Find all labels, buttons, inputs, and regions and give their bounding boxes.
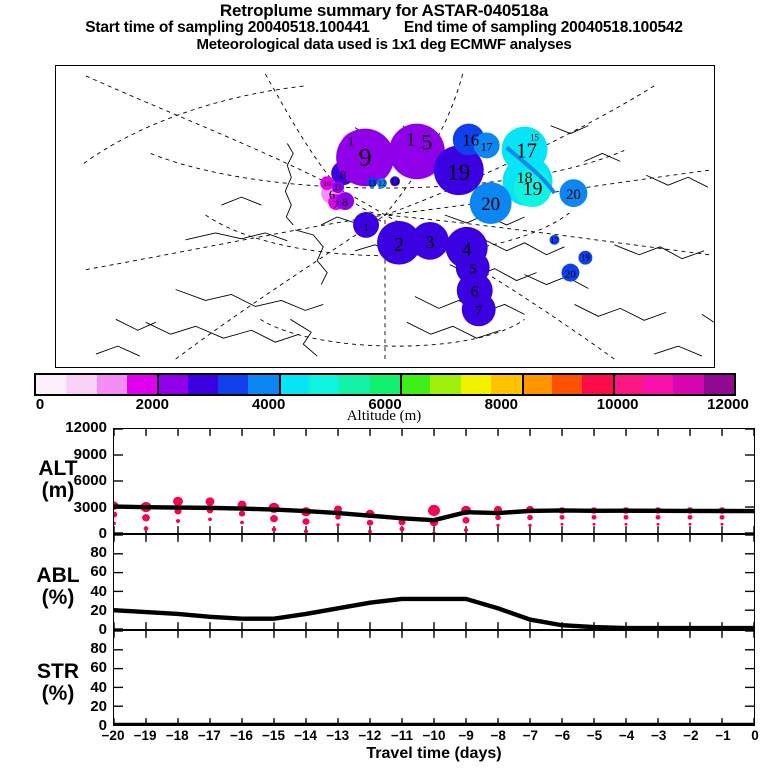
svg-text:19: 19 <box>581 253 590 263</box>
svg-text:3: 3 <box>425 232 434 252</box>
y-axis-tick: 20 <box>45 699 107 714</box>
y-axis-tick: 80 <box>45 545 107 560</box>
y-axis-tick: 60 <box>45 564 107 579</box>
colorbar-segment <box>704 375 734 394</box>
colorbar-segment <box>309 375 339 394</box>
alt-data-point <box>656 515 661 520</box>
colorbar-segment <box>430 375 460 394</box>
altitude-colorbar[interactable] <box>34 373 736 396</box>
svg-text:17: 17 <box>481 139 493 153</box>
svg-text:17: 17 <box>551 236 559 245</box>
alt-data-point <box>462 517 469 524</box>
svg-text:5: 5 <box>421 129 432 154</box>
y-axis-tick: 40 <box>45 584 107 599</box>
x-axis-tick: −19 <box>134 728 157 743</box>
alt-data-point <box>561 523 564 526</box>
start-time-label: Start time of sampling 20040518.100441 <box>85 19 369 36</box>
x-axis-tick: −10 <box>423 728 446 743</box>
alt-data-point <box>302 518 309 525</box>
alt-data-point <box>431 532 436 533</box>
alt-data-point <box>527 515 533 520</box>
svg-text:7: 7 <box>475 303 483 319</box>
alt-data-point <box>689 523 692 526</box>
alt-data-point <box>688 515 693 520</box>
colorbar-segment <box>370 375 400 394</box>
svg-text:1: 1 <box>363 220 369 234</box>
colorbar-segment <box>97 375 127 394</box>
str-plot[interactable] <box>113 630 755 726</box>
colorbar-segment <box>400 375 430 394</box>
alt-data-point <box>400 527 405 532</box>
colorbar-segment <box>643 375 673 394</box>
str-tick-marks <box>114 631 754 725</box>
colorbar-segment <box>552 375 582 394</box>
svg-text:7: 7 <box>333 199 339 211</box>
abl-plot-canvas <box>114 535 754 629</box>
x-axis-tick: −2 <box>683 728 698 743</box>
alt-data-point <box>304 529 308 533</box>
abl-plot[interactable] <box>113 534 755 630</box>
x-axis-tick: −6 <box>555 728 570 743</box>
x-axis-tick: −16 <box>230 728 253 743</box>
alt-data-point <box>367 520 373 526</box>
svg-text:9: 9 <box>359 142 372 171</box>
colorbar-segment <box>127 375 157 394</box>
y-axis-tick: 12000 <box>45 420 107 435</box>
svg-text:5: 5 <box>469 262 476 278</box>
alt-data-points <box>114 497 725 533</box>
colorbar-segment <box>613 375 643 394</box>
colorbar-segment <box>36 375 66 394</box>
alt-data-point <box>592 515 597 520</box>
y-axis-tick: 20 <box>45 603 107 618</box>
y-axis-tick: 3000 <box>45 500 107 515</box>
alt-data-point <box>176 519 180 523</box>
x-axis-tick: −3 <box>651 728 666 743</box>
svg-text:15: 15 <box>530 133 539 143</box>
x-axis-tick: −15 <box>262 728 285 743</box>
svg-text:20: 20 <box>565 269 576 281</box>
x-axis-tick: −11 <box>391 728 413 743</box>
alt-data-point <box>624 515 629 520</box>
svg-text:20: 20 <box>481 194 500 215</box>
x-axis-tick: −18 <box>166 728 189 743</box>
alt-data-point <box>173 497 183 506</box>
svg-text:1: 1 <box>348 133 354 148</box>
alt-data-point <box>368 530 372 533</box>
x-axis-tick: −14 <box>294 728 317 743</box>
x-axis-tick: −1 <box>715 728 730 743</box>
alt-data-point <box>720 515 725 520</box>
colorbar-title: Altitude (m) <box>0 408 768 425</box>
svg-text:14: 14 <box>390 177 399 187</box>
str-ytick-marks <box>114 631 754 725</box>
y-axis-tick: 9000 <box>45 447 107 462</box>
colorbar-segment <box>673 375 703 394</box>
retroplume-map[interactable]: 1 9 8 6 7 10 11 8 1 5 13 12 14 19 16 17 … <box>55 65 715 368</box>
colorbar-segment <box>279 375 309 394</box>
colorbar-segment <box>157 375 187 394</box>
colorbar-segment <box>522 375 552 394</box>
colorbar-segment <box>339 375 369 394</box>
alt-data-point <box>239 511 245 517</box>
y-axis-tick: 6000 <box>45 473 107 488</box>
x-axis-tick: −7 <box>523 728 538 743</box>
x-axis-tick: 0 <box>751 728 759 743</box>
alt-data-point <box>496 524 499 527</box>
title-block: Retroplume summary for ASTAR-040518a Sta… <box>0 0 768 53</box>
colorbar-segment <box>582 375 612 394</box>
alt-data-point <box>142 514 150 521</box>
alt-data-point <box>270 515 278 522</box>
sampling-time-line: Start time of sampling 20040518.100441 E… <box>0 20 768 37</box>
y-axis-tick: 0 <box>45 622 107 637</box>
svg-text:16: 16 <box>462 130 479 149</box>
met-data-label: Meteorological data used is 1x1 deg ECMW… <box>0 37 768 53</box>
svg-text:4: 4 <box>462 240 472 261</box>
alt-data-point <box>208 517 212 521</box>
str-plot-canvas <box>114 631 754 725</box>
alt-data-point <box>206 497 215 505</box>
colorbar-segment <box>461 375 491 394</box>
svg-text:1: 1 <box>406 130 415 151</box>
map-graticule <box>84 74 709 359</box>
alt-plot-canvas <box>114 429 754 533</box>
colorbar-segment <box>491 375 521 394</box>
x-axis-tick: −12 <box>358 728 381 743</box>
svg-text:6: 6 <box>471 283 479 300</box>
y-axis-tick: 40 <box>45 680 107 695</box>
svg-text:8: 8 <box>340 168 346 182</box>
end-time-label: End time of sampling 20040518.100542 <box>404 19 683 36</box>
svg-text:11: 11 <box>334 183 342 192</box>
alt-data-point <box>495 515 501 520</box>
colorbar-segment <box>218 375 248 394</box>
y-axis-tick: 80 <box>45 641 107 656</box>
svg-text:19: 19 <box>447 160 470 185</box>
x-axis-tick: −9 <box>458 728 473 743</box>
svg-text:20: 20 <box>566 187 581 203</box>
alt-data-point <box>272 527 277 531</box>
svg-text:10: 10 <box>323 179 331 188</box>
alt-data-point <box>144 526 149 530</box>
colorbar-segment <box>188 375 218 394</box>
x-axis-title: Travel time (days) <box>113 745 755 763</box>
svg-text:13: 13 <box>368 179 376 188</box>
x-axis-tick: −20 <box>102 728 125 743</box>
alt-data-point <box>560 515 565 520</box>
alt-data-point <box>336 523 339 526</box>
x-axis-tick: −13 <box>326 728 349 743</box>
alt-data-point <box>721 523 724 526</box>
colorbar-segment <box>66 375 96 394</box>
y-axis-tick: 0 <box>45 526 107 541</box>
x-axis-tick: −5 <box>587 728 602 743</box>
map-canvas: 1 9 8 6 7 10 11 8 1 5 13 12 14 19 16 17 … <box>56 66 714 367</box>
page-title: Retroplume summary for ASTAR-040518a <box>0 0 768 20</box>
alt-data-point <box>240 521 244 525</box>
alt-plot[interactable] <box>113 428 755 534</box>
alt-data-point <box>114 522 116 526</box>
alt-data-point <box>528 524 531 527</box>
svg-text:8: 8 <box>342 195 348 209</box>
y-axis-tick: 60 <box>45 660 107 675</box>
svg-text:19: 19 <box>523 178 543 200</box>
svg-text:2: 2 <box>394 234 404 256</box>
alt-data-point <box>625 523 628 526</box>
alt-data-point <box>114 512 117 518</box>
svg-text:12: 12 <box>378 179 386 188</box>
x-axis-tick: −17 <box>198 728 221 743</box>
alt-data-point <box>428 505 440 516</box>
alt-data-point <box>464 528 468 532</box>
alt-data-point <box>593 523 596 526</box>
x-axis-tick: −4 <box>619 728 634 743</box>
alt-data-point <box>657 523 660 526</box>
x-axis-tick: −8 <box>490 728 505 743</box>
colorbar-segment <box>248 375 278 394</box>
